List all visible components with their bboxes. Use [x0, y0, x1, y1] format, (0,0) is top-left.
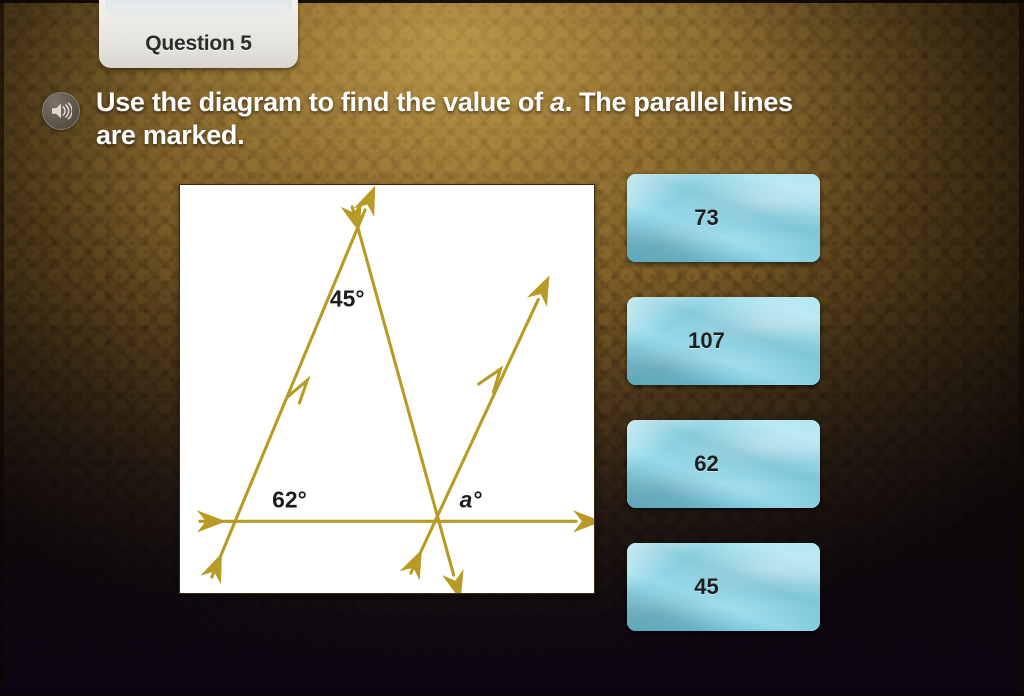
answer-option-2[interactable]: 107: [627, 297, 820, 385]
answer-options-list: 73 107 62 45: [627, 174, 820, 666]
question-number-label: Question 5: [145, 32, 252, 56]
prompt-line2: are marked.: [96, 120, 244, 150]
diagram-lines: [200, 207, 576, 577]
geometry-diagram: 45° 62° a°: [180, 185, 594, 593]
audio-play-button[interactable]: [42, 92, 80, 130]
answer-option-label: 73: [694, 205, 718, 231]
prompt-line1-before: Use the diagram to find the value of: [96, 87, 550, 117]
paper-texture: [627, 420, 820, 508]
prompt-row: Use the diagram to find the value of a. …: [42, 86, 972, 153]
angle-label-62: 62°: [272, 486, 307, 512]
answer-option-label: 107: [688, 328, 725, 354]
speaker-icon: [50, 102, 72, 120]
angle-label-a: a°: [460, 486, 483, 512]
prompt-line1-after: . The parallel lines: [565, 87, 793, 117]
paper-texture: [627, 174, 820, 262]
tab-sheen: [105, 0, 292, 22]
question-number-tab: Question 5: [99, 0, 298, 68]
diagram-panel: 45° 62° a°: [179, 184, 595, 594]
angle-label-45: 45°: [330, 285, 365, 311]
paper-texture: [627, 543, 820, 631]
answer-option-label: 62: [694, 451, 718, 477]
slide-stage: Question 5 Use the diagram to find the v…: [0, 0, 1024, 696]
prompt-variable: a: [550, 87, 565, 117]
answer-option-label: 45: [694, 574, 718, 600]
answer-option-1[interactable]: 73: [627, 174, 820, 262]
answer-option-3[interactable]: 62: [627, 420, 820, 508]
prompt-text: Use the diagram to find the value of a. …: [96, 86, 793, 153]
right-transversal-line: [411, 299, 538, 573]
answer-option-4[interactable]: 45: [627, 543, 820, 631]
